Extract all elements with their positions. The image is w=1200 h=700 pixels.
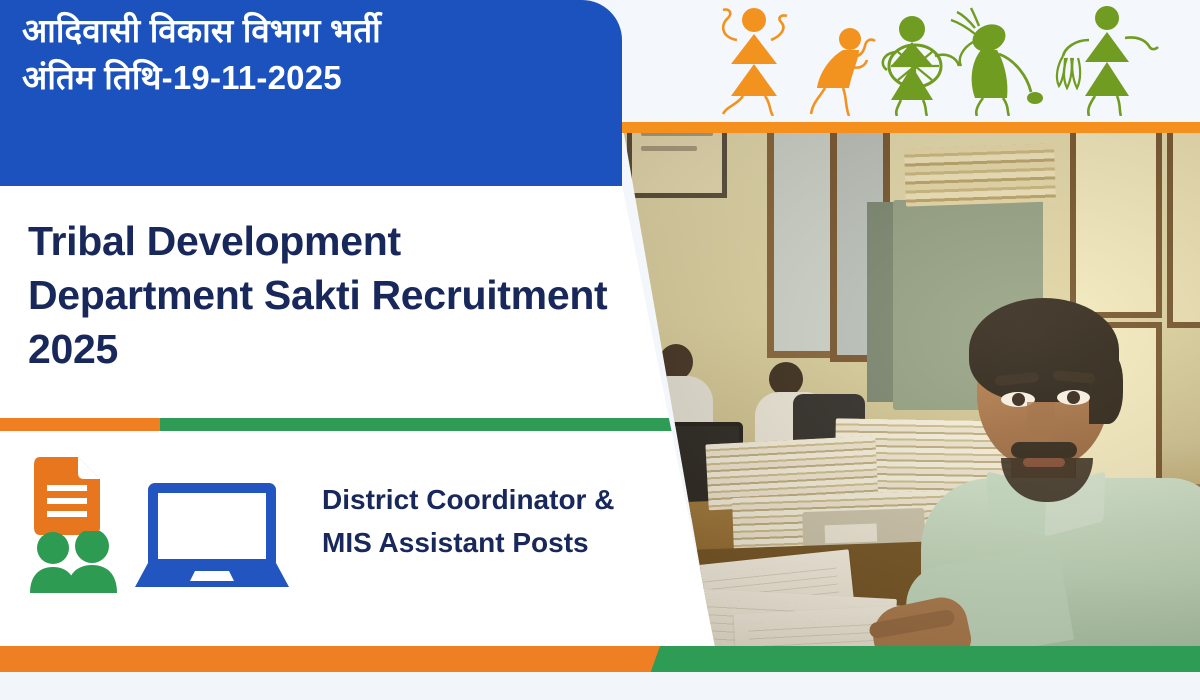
warli-figures-svg [707, 4, 1177, 116]
warli-drummer-green-1 [883, 16, 959, 116]
warli-carrier-green-3 [1057, 6, 1158, 116]
bottom-tricolor-band [0, 646, 1200, 674]
laptop-icon [135, 483, 289, 592]
bottom-background-strip [0, 672, 1200, 700]
bottom-green-segment [650, 646, 1200, 674]
document-icon [34, 457, 100, 540]
warli-worker-green-2 [951, 8, 1043, 116]
divider-orange-segment [0, 418, 163, 431]
hindi-headline: आदिवासी विकास विभाग भर्ती अंतिम तिथि-19-… [22, 8, 582, 102]
photo-top-orange-bar [617, 122, 1200, 133]
people-icon [30, 531, 122, 598]
bottom-orange-segment [0, 646, 700, 674]
divider-green-segment [160, 418, 690, 431]
hindi-header-panel: आदिवासी विकास विभाग भर्ती अंतिम तिथि-19-… [0, 0, 622, 186]
posts-label: District Coordinator & MIS Assistant Pos… [322, 479, 652, 564]
content-panel: Tribal Development Department Sakti Recr… [0, 185, 740, 652]
recruitment-poster: आदिवासी विकास विभाग भर्ती अंतिम तिथि-19-… [0, 0, 1200, 700]
warli-art-band [615, 0, 1200, 124]
warli-bending-orange-2 [811, 28, 875, 116]
office-photo [615, 122, 1200, 652]
warli-dancer-orange-1 [723, 8, 787, 116]
icons-row [30, 457, 300, 587]
page-title: Tribal Development Department Sakti Recr… [28, 214, 608, 376]
divider-bar [0, 418, 690, 431]
